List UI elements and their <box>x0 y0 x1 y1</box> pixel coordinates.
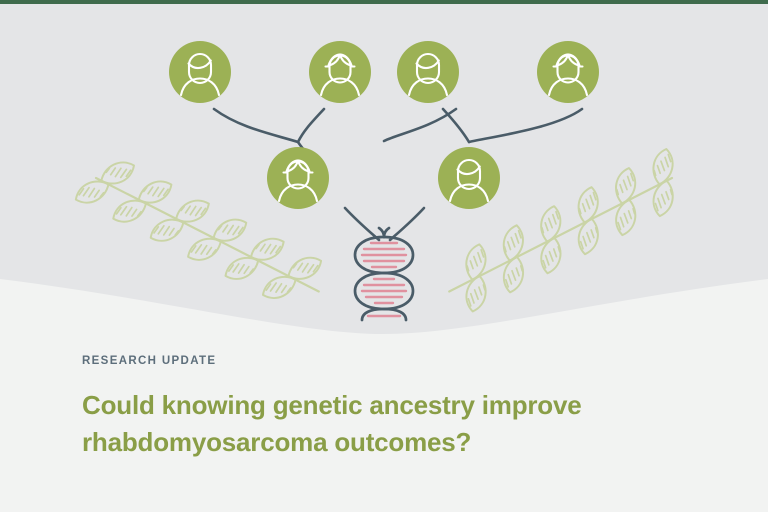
ancestor-3 <box>397 41 459 103</box>
ancestor-2 <box>309 41 371 103</box>
illustration-svg <box>0 0 768 350</box>
illustration-family-pedigree <box>0 0 768 350</box>
article-eyebrow: RESEARCH UPDATE <box>82 355 682 369</box>
article-text-block: RESEARCH UPDATE Could knowing genetic an… <box>82 355 682 461</box>
parent-1 <box>267 147 329 209</box>
hero-article-card: RESEARCH UPDATE Could knowing genetic an… <box>0 0 768 512</box>
dna-helix-icon <box>355 228 413 320</box>
ancestor-4 <box>537 41 599 103</box>
ancestor-1 <box>169 41 231 103</box>
parent-2 <box>438 147 500 209</box>
top-accent-rule <box>0 0 768 4</box>
article-headline: Could knowing genetic ancestry improve r… <box>82 387 642 461</box>
